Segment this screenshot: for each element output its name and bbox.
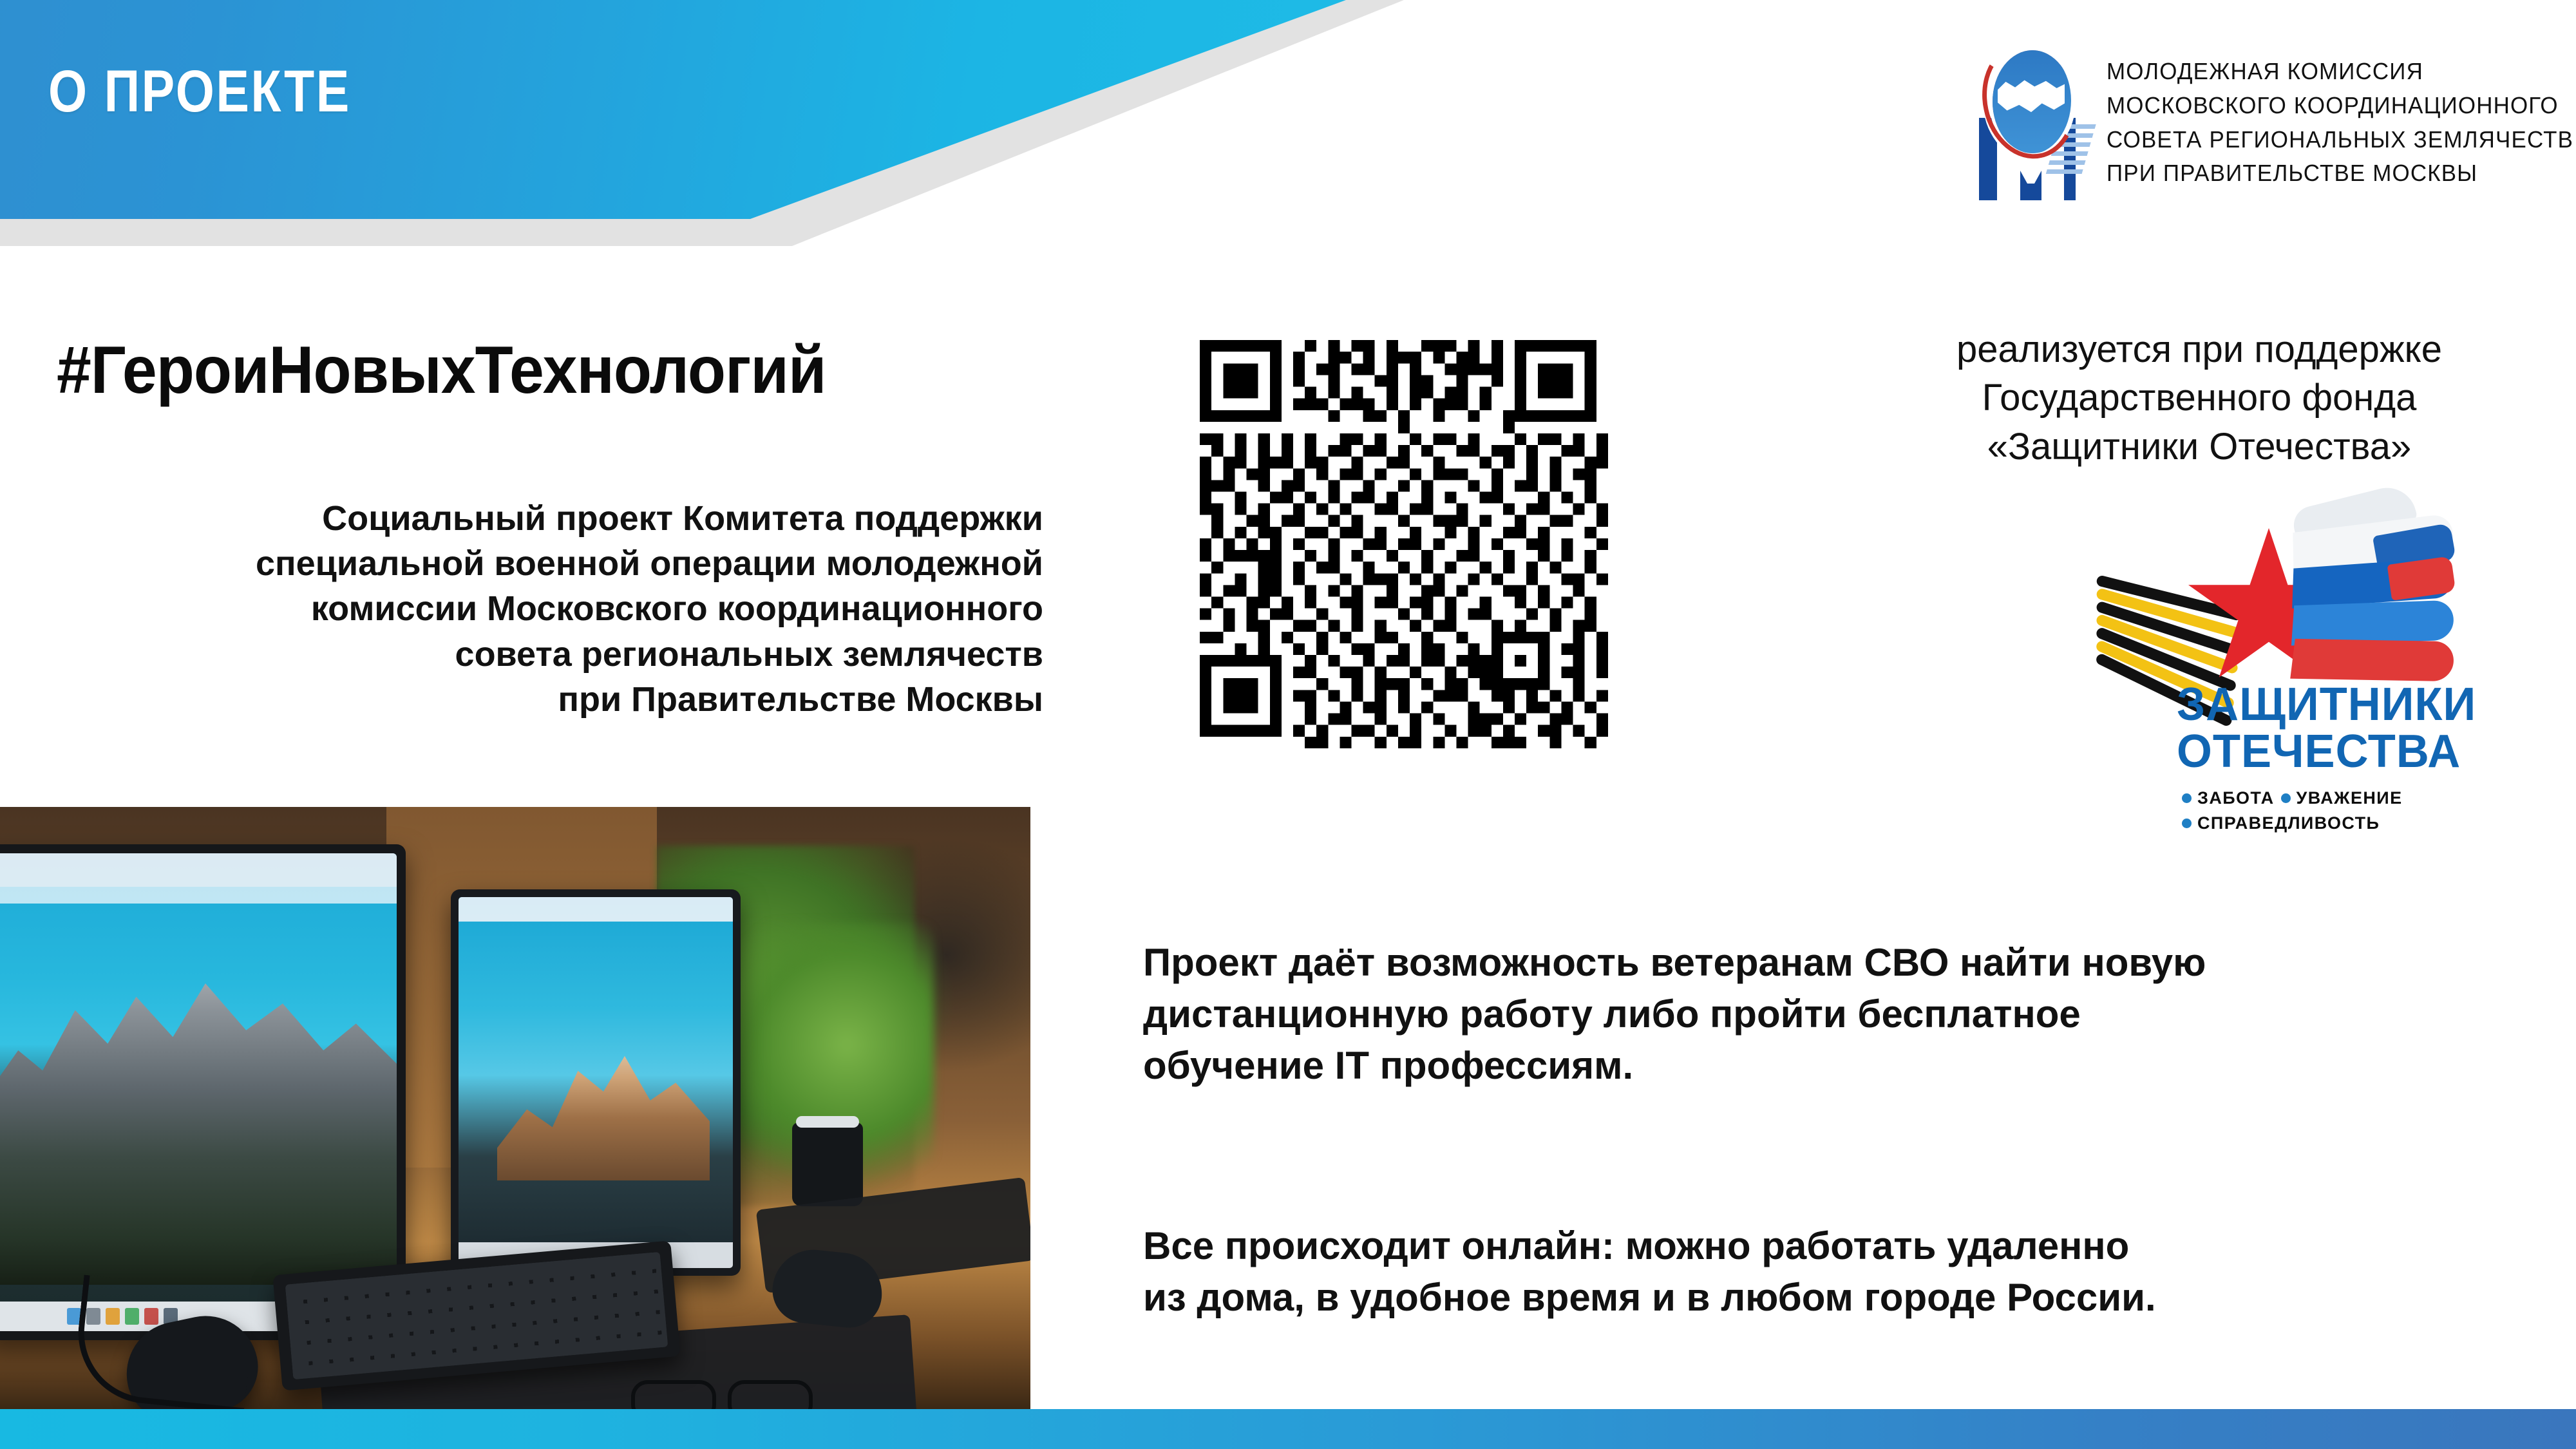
page-title: О ПРОЕКТЕ	[48, 62, 351, 121]
support-line-1: реализуется при поддержке	[1829, 325, 2570, 374]
body-paragraph-1: Проект даёт возможность ветеранам СВО на…	[1143, 937, 2560, 1091]
cup	[792, 1122, 863, 1206]
description-line-1: Социальный проект Комитета поддержки	[39, 496, 1043, 541]
bottom-accent-bar	[0, 1409, 2576, 1449]
description-line-3: комиссии Московского координационного	[39, 586, 1043, 631]
russian-flag-icon	[2293, 518, 2454, 705]
defenders-value-2: УВАЖЕНИЕ	[2297, 786, 2403, 811]
defenders-of-fatherland-logo: ЗАЩИТНИКИ ОТЕЧЕСТВА ЗАБОТА УВАЖЕНИЕ СПРА…	[2106, 515, 2557, 850]
org-emblem-icon	[1967, 42, 2090, 203]
defenders-value-1: ЗАБОТА	[2197, 786, 2275, 811]
bullet-dot-icon	[2182, 793, 2192, 803]
description-line-4: совета региональных землячеств	[39, 632, 1043, 677]
defenders-logo-name: ЗАЩИТНИКИ ОТЕЧЕСТВА	[2177, 681, 2505, 776]
defenders-value-3: СПРАВЕДЛИВОСТЬ	[2197, 811, 2380, 836]
qr-code-icon	[1150, 328, 1658, 760]
body1-line-1: Проект даёт возможность ветеранам СВО на…	[1143, 937, 2560, 989]
slide-root: О ПРОЕКТЕ МОЛОДЕЖНАЯ КОМИССИЯ МОСКОВСКОГ…	[0, 0, 2576, 1449]
org-logo-line-2: МОСКОВСКОГО КООРДИНАЦИОННОГО	[2107, 93, 2573, 118]
bullet-dot-icon	[2182, 819, 2192, 828]
body1-line-2: дистанционную работу либо пройти бесплат…	[1143, 989, 2560, 1040]
project-description: Социальный проект Комитета поддержки спе…	[39, 496, 1043, 722]
org-logo: МОЛОДЕЖНАЯ КОМИССИЯ МОСКОВСКОГО КООРДИНА…	[1967, 39, 2547, 206]
qr-code[interactable]	[1150, 328, 1658, 760]
body-paragraph-2: Все происходит онлайн: можно работать уд…	[1143, 1220, 2560, 1323]
org-logo-text: МОЛОДЕЖНАЯ КОМИССИЯ МОСКОВСКОГО КООРДИНА…	[2107, 59, 2576, 185]
bullet-dot-icon	[2281, 793, 2291, 803]
org-logo-line-4: ПРИ ПРАВИТЕЛЬСТВЕ МОСКВЫ	[2107, 161, 2573, 185]
defenders-name-line-1: ЗАЩИТНИКИ	[2177, 681, 2505, 728]
defenders-name-line-2: ОТЕЧЕСТВА	[2177, 728, 2505, 775]
body2-line-2: из дома, в удобное время и в любом город…	[1143, 1272, 2560, 1323]
workstation-photo	[0, 807, 1030, 1410]
support-line-3: «Защитники Отечества»	[1829, 422, 2570, 471]
description-line-2: специальной военной операции молодежной	[39, 541, 1043, 586]
support-line-2: Государственного фонда	[1829, 374, 2570, 422]
monitor-primary	[0, 844, 406, 1340]
defenders-values: ЗАБОТА УВАЖЕНИЕ СПРАВЕДЛИВОСТЬ	[2182, 786, 2543, 836]
body2-line-1: Все происходит онлайн: можно работать уд…	[1143, 1220, 2560, 1272]
project-hashtag: #ГероиНовыхТехнологий	[57, 332, 826, 409]
body1-line-3: обучение IT профессиям.	[1143, 1040, 2560, 1092]
support-text: реализуется при поддержке Государственно…	[1829, 325, 2570, 471]
eyeglasses	[631, 1374, 844, 1410]
org-logo-line-3: СОВЕТА РЕГИОНАЛЬНЫХ ЗЕМЛЯЧЕСТВ	[2107, 128, 2573, 152]
monitor-secondary	[451, 889, 741, 1276]
org-logo-line-1: МОЛОДЕЖНАЯ КОМИССИЯ	[2107, 59, 2573, 84]
description-line-5: при Правительстве Москвы	[39, 677, 1043, 722]
